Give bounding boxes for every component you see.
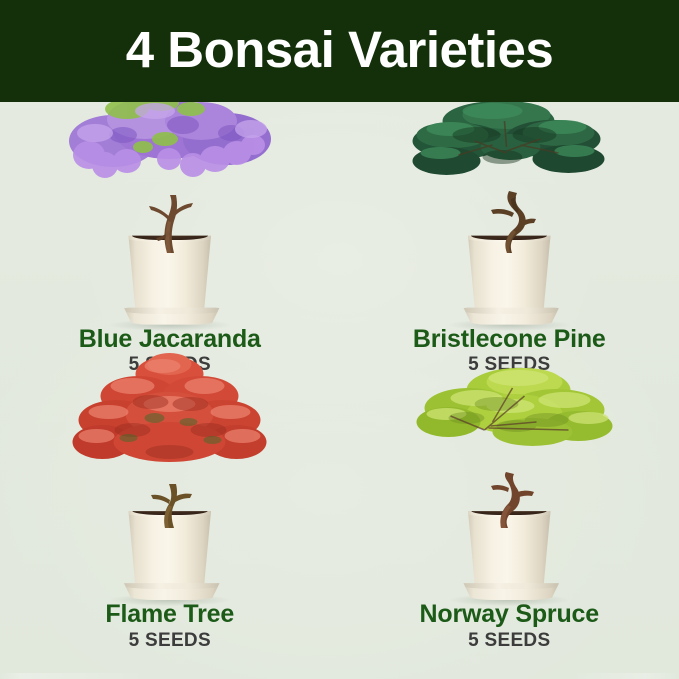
product-image: 4 Bonsai Varieties: [0, 0, 679, 679]
variety-card-norway-spruce: Norway Spruce 5 SEEDS: [340, 391, 679, 679]
plant-stage: [340, 391, 679, 601]
variety-label: Flame Tree 5 SEEDS: [105, 602, 234, 650]
bonsai-norway-spruce: [402, 395, 617, 600]
variety-label: Bristlecone Pine 5 SEEDS: [413, 327, 606, 375]
trunk-spruce-icon: [483, 470, 535, 530]
foliage-jacaranda-icon: [65, 89, 275, 197]
variety-seed-count: 5 SEEDS: [413, 355, 606, 374]
variety-card-bristlecone-pine: Bristlecone Pine 5 SEEDS: [340, 102, 679, 391]
variety-card-blue-jacaranda: Blue Jacaranda 5 SEEDS: [0, 102, 340, 391]
pot-saucer: [120, 308, 224, 325]
plant-stage: [0, 102, 340, 325]
variety-seed-count: 5 SEEDS: [420, 631, 599, 650]
pot-saucer: [459, 308, 563, 325]
variety-grid: Blue Jacaranda 5 SEEDS: [0, 102, 679, 679]
variety-seed-count: 5 SEEDS: [105, 631, 234, 650]
plant-stage: [0, 391, 340, 601]
header-banner: 4 Bonsai Varieties: [0, 0, 679, 102]
pot-saucer: [459, 583, 563, 600]
trunk-jacaranda-icon: [143, 191, 197, 255]
variety-label: Blue Jacaranda 5 SEEDS: [79, 327, 261, 375]
trunk-pine-icon: [481, 189, 537, 255]
foliage-pine-icon: [407, 95, 612, 195]
variety-card-flame-tree: Flame Tree 5 SEEDS: [0, 391, 340, 679]
bonsai-blue-jacaranda: [62, 120, 277, 325]
trunk-flame-icon: [145, 478, 195, 530]
variety-seed-count: 5 SEEDS: [79, 355, 261, 374]
bonsai-bristlecone-pine: [402, 120, 617, 325]
plant-stage: [340, 102, 679, 325]
variety-label: Norway Spruce 5 SEEDS: [420, 602, 599, 650]
page-title: 4 Bonsai Varieties: [126, 24, 554, 75]
pot-saucer: [120, 583, 224, 600]
bonsai-flame-tree: [62, 395, 277, 600]
